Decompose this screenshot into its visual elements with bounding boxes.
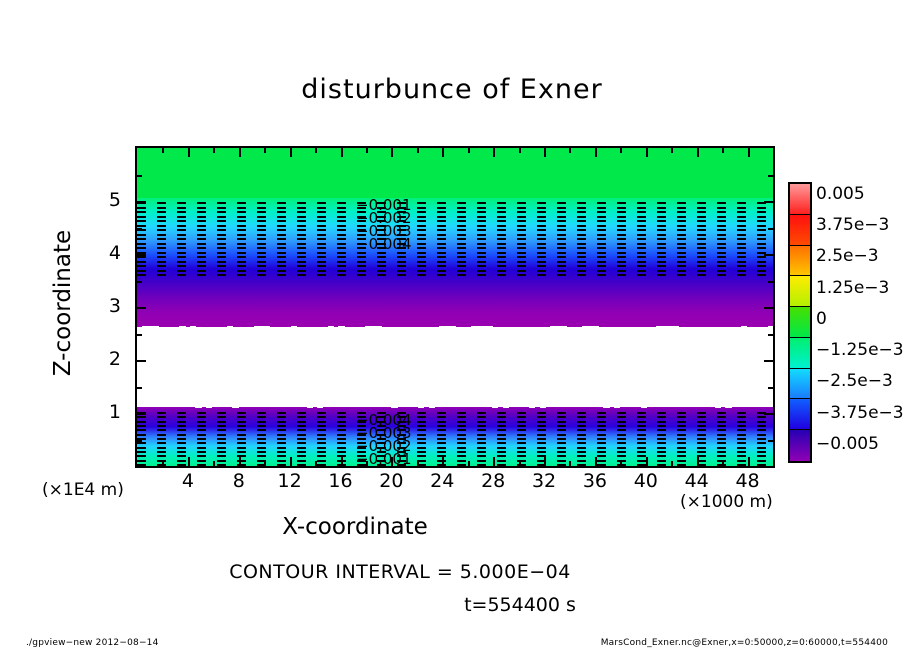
y-tick [137,440,142,442]
x-tick [188,148,190,157]
colorbar-label: 3.75e−3 [816,215,889,235]
y-tick [764,360,773,362]
contour-label-upper-4: −0.004 [356,235,412,253]
x-tick [671,148,673,153]
x-tick [366,148,368,153]
y-tick-label: 3 [95,295,121,317]
y-tick [137,201,146,203]
x-tick [239,457,241,466]
x-tick [646,457,648,466]
x-tick [468,148,470,153]
footer-command-text: ./gpview−new 2012−08−14 [26,638,159,648]
x-tick [697,148,699,157]
y-tick [137,281,142,283]
colorbar-label: −0.005 [816,434,879,454]
contour-band-green [137,148,773,198]
upper-transition-gradient [137,198,773,268]
colorbar-label: 0 [816,309,827,329]
y-tick [764,201,773,203]
x-tick [773,148,775,153]
x-tick [417,148,419,153]
y-tick [768,228,773,230]
y-tick [768,334,773,336]
colorbar-cell-yellow [790,276,810,307]
contour-interval-text: CONTOUR INTERVAL = 5.000E−04 [0,561,800,583]
colorbar[interactable] [788,182,812,463]
x-tick [417,461,419,466]
x-tick [341,148,343,157]
x-tick [442,457,444,466]
x-tick [162,148,164,153]
x-tick [239,148,241,157]
colorbar-label: −1.25e−3 [816,340,904,360]
contour-plot-area[interactable] [135,146,775,468]
y-tick [137,360,146,362]
x-tick [315,461,317,466]
x-tick [569,148,571,153]
x-tick [290,148,292,157]
x-tick [697,457,699,466]
x-tick [213,461,215,466]
x-tick [213,148,215,153]
colorbar-cell-blue [790,399,810,430]
y-tick [137,228,142,230]
x-tick [162,461,164,466]
y-tick [768,175,773,177]
y-tick-label: 4 [95,242,121,264]
page-title: disturbunce of Exner [0,74,904,105]
y-tick [137,387,142,389]
x-tick [544,457,546,466]
x-tick [748,457,750,466]
x-tick [748,148,750,157]
x-tick [620,148,622,153]
x-tick [391,148,393,157]
y-tick [764,307,773,309]
x-tick [442,148,444,157]
x-tick [264,461,266,466]
x-tick [595,148,597,157]
x-tick [722,461,724,466]
x-tick [671,461,673,466]
x-tick [188,457,190,466]
colorbar-cell-pink-red [790,184,810,215]
y-axis-title: Z-coordinate [50,178,76,428]
x-tick [290,457,292,466]
y-tick [137,413,146,415]
y-tick [137,254,146,256]
x-tick [519,148,521,153]
x-tick [315,148,317,153]
x-axis-unit-label: (×1000 m) [680,492,773,512]
x-tick [519,461,521,466]
x-tick [341,457,343,466]
colorbar-cell-violet [790,430,810,461]
y-tick [764,254,773,256]
x-tick [544,148,546,157]
x-tick [366,461,368,466]
contour-label-lower-4: −0.001 [356,450,412,468]
y-tick-label: 1 [95,401,121,423]
x-tick [493,148,495,157]
colorbar-cell-green-cyan [790,338,810,369]
x-tick [391,457,393,466]
upper-violet-gradient [137,269,773,327]
x-tick [722,148,724,153]
colorbar-cell-cyan-blue [790,369,810,400]
y-tick [137,334,142,336]
colorbar-cell-red [790,215,810,246]
x-tick [264,148,266,153]
colorbar-label: 1.25e−3 [816,278,889,298]
contour-band-out-of-range-white [137,327,773,407]
colorbar-label: 2.5e−3 [816,246,879,266]
x-tick [620,461,622,466]
x-tick [493,457,495,466]
colorbar-cell-orange [790,246,810,277]
x-axis-title: X-coordinate [0,514,710,540]
y-tick [768,281,773,283]
y-tick-label: 2 [95,348,121,370]
x-tick [646,148,648,157]
time-text: t=554400 s [0,594,904,616]
colorbar-cell-green [790,307,810,338]
x-tick [569,461,571,466]
y-tick [768,387,773,389]
footer-source-text: MarsCond_Exner.nc@Exner,x=0:50000,z=0:60… [601,638,888,648]
y-tick [137,175,142,177]
y-tick-label: 5 [95,189,121,211]
lower-transition-gradient [137,407,773,466]
contour-canvas [137,148,773,466]
colorbar-label: −2.5e−3 [816,371,893,391]
colorbar-label: −3.75e−3 [816,403,904,423]
x-tick [468,461,470,466]
x-tick-label: 48 [718,470,778,492]
y-tick [764,413,773,415]
colorbar-label: 0.005 [816,184,865,204]
x-tick [773,461,775,466]
y-axis-unit-label: (×1E4 m) [42,480,124,500]
y-tick [137,307,146,309]
x-tick [595,457,597,466]
y-tick [768,440,773,442]
